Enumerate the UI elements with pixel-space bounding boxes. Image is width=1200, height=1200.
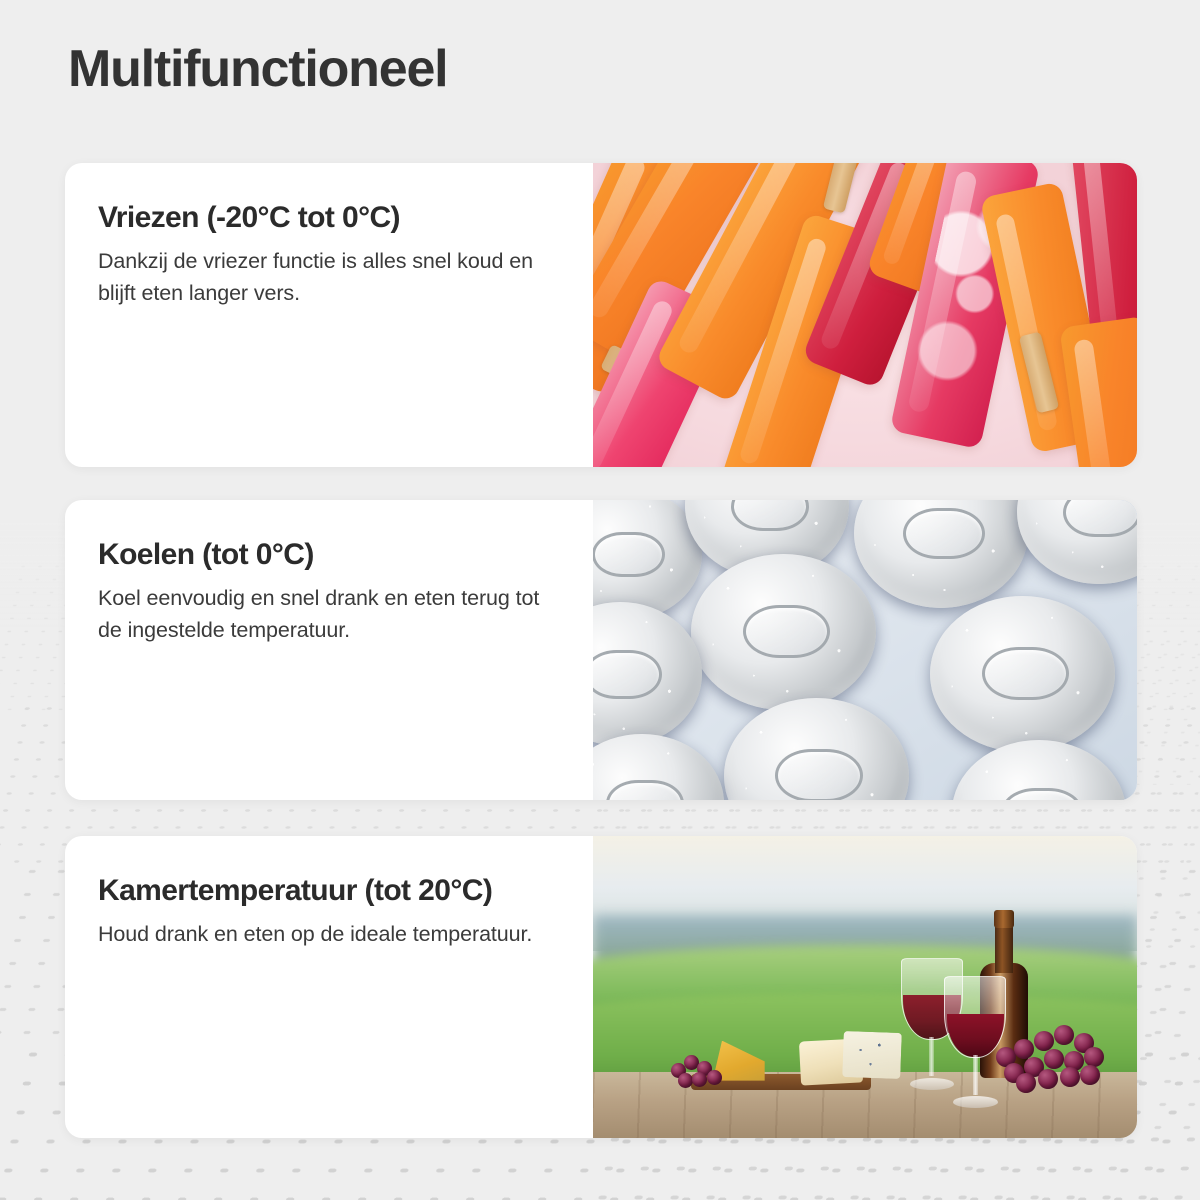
glass-foot bbox=[953, 1096, 998, 1108]
can-top-7 bbox=[930, 596, 1115, 752]
bottle-cap bbox=[994, 910, 1014, 928]
feature-card-kamertemperatuur: Kamertemperatuur (tot 20°C) Houd drank e… bbox=[65, 836, 1137, 1138]
condensation-droplets bbox=[952, 740, 1126, 800]
grape bbox=[707, 1070, 722, 1085]
grapes-bunch bbox=[990, 1017, 1110, 1087]
glass-stem bbox=[929, 1037, 934, 1077]
wine-illustration bbox=[593, 836, 1137, 1138]
grape bbox=[1060, 1067, 1080, 1087]
card-body: Dankzij de vriezer functie is alles snel… bbox=[98, 245, 553, 310]
wine-cheese-photo bbox=[593, 836, 1137, 1138]
condensation-droplets bbox=[593, 602, 702, 746]
grape bbox=[692, 1072, 707, 1087]
can-top-10 bbox=[952, 740, 1126, 800]
card-text-block: Kamertemperatuur (tot 20°C) Houd drank e… bbox=[65, 836, 593, 1138]
grape bbox=[1014, 1039, 1034, 1059]
card-body: Koel eenvoudig en snel drank en eten ter… bbox=[98, 582, 553, 647]
grape bbox=[1038, 1069, 1058, 1089]
can-top-9 bbox=[593, 734, 724, 800]
popsicles-photo bbox=[593, 163, 1137, 467]
can-top-3 bbox=[854, 500, 1028, 608]
can-top-8 bbox=[724, 698, 909, 800]
grape bbox=[1054, 1025, 1074, 1045]
grapes-small-bunch bbox=[669, 1043, 731, 1087]
grape bbox=[1016, 1073, 1036, 1093]
card-body: Houd drank en eten op de ideale temperat… bbox=[98, 918, 553, 951]
card-title: Vriezen (-20°C tot 0°C) bbox=[98, 201, 559, 236]
condensation-droplets bbox=[1017, 500, 1137, 584]
card-title: Koelen (tot 0°C) bbox=[98, 538, 559, 573]
can-top-4 bbox=[1017, 500, 1137, 584]
cans-illustration bbox=[593, 500, 1137, 800]
condensation-droplets bbox=[724, 698, 909, 800]
card-title: Kamertemperatuur (tot 20°C) bbox=[98, 874, 559, 909]
condensation-droplets bbox=[930, 596, 1115, 752]
feature-card-koelen: Koelen (tot 0°C) Koel eenvoudig en snel … bbox=[65, 500, 1137, 800]
grape bbox=[1034, 1031, 1054, 1051]
cheese-blue bbox=[842, 1031, 902, 1079]
page-title: Multifunctioneel bbox=[68, 40, 447, 100]
grape bbox=[1044, 1049, 1064, 1069]
feature-card-vriezen: Vriezen (-20°C tot 0°C) Dankzij de vriez… bbox=[65, 163, 1137, 467]
grape bbox=[678, 1073, 693, 1088]
condensation-droplets bbox=[691, 554, 876, 710]
can-top-6 bbox=[593, 602, 702, 746]
grape bbox=[1084, 1047, 1104, 1067]
soda-cans-photo bbox=[593, 500, 1137, 800]
card-text-block: Vriezen (-20°C tot 0°C) Dankzij de vriez… bbox=[65, 163, 593, 467]
can-top-5 bbox=[691, 554, 876, 710]
grape bbox=[1080, 1065, 1100, 1085]
condensation-droplets bbox=[593, 734, 724, 800]
condensation-droplets bbox=[854, 500, 1028, 608]
card-text-block: Koelen (tot 0°C) Koel eenvoudig en snel … bbox=[65, 500, 593, 800]
page-root: Multifunctioneel Vriezen (-20°C tot 0°C)… bbox=[0, 0, 1200, 1200]
popsicles-illustration bbox=[593, 163, 1137, 467]
glass-stem bbox=[973, 1055, 978, 1095]
